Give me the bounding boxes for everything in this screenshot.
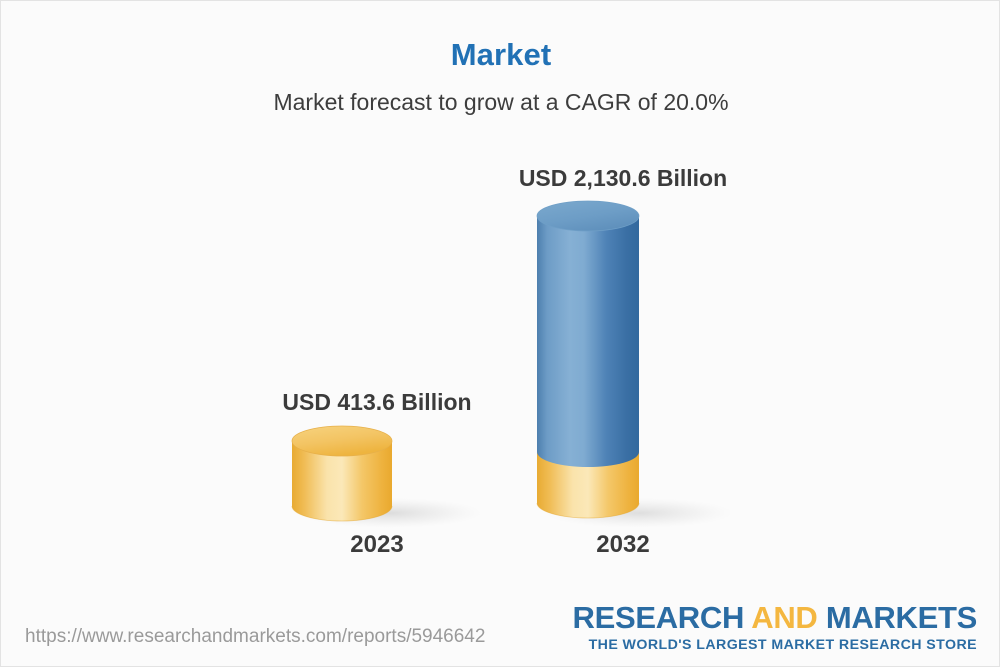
logo-word-research: RESEARCH — [573, 600, 752, 635]
logo-word-markets: MARKETS — [826, 600, 977, 635]
chart-page: Market Market forecast to grow at a CAGR… — [0, 0, 1000, 667]
bar-cylinder-2032 — [531, 201, 741, 536]
report-url[interactable]: https://www.researchandmarkets.com/repor… — [25, 626, 485, 648]
data-label-2032: USD 2,130.6 Billion — [499, 165, 747, 192]
logo-tagline: THE WORLD'S LARGEST MARKET RESEARCH STOR… — [573, 638, 978, 652]
research-and-markets-logo: RESEARCH AND MARKETS THE WORLD'S LARGEST… — [573, 602, 978, 652]
bar-cylinder-2023 — [286, 425, 486, 535]
logo-word-and: AND — [751, 600, 826, 635]
category-label-2023: 2023 — [253, 531, 501, 559]
logo-wordmark: RESEARCH AND MARKETS — [573, 602, 978, 633]
data-label-2023: USD 413.6 Billion — [253, 389, 501, 416]
chart-plot-area: USD 413.6 Billion USD 2,130.6 Billion 20… — [1, 1, 1000, 667]
category-label-2032: 2032 — [499, 531, 747, 559]
